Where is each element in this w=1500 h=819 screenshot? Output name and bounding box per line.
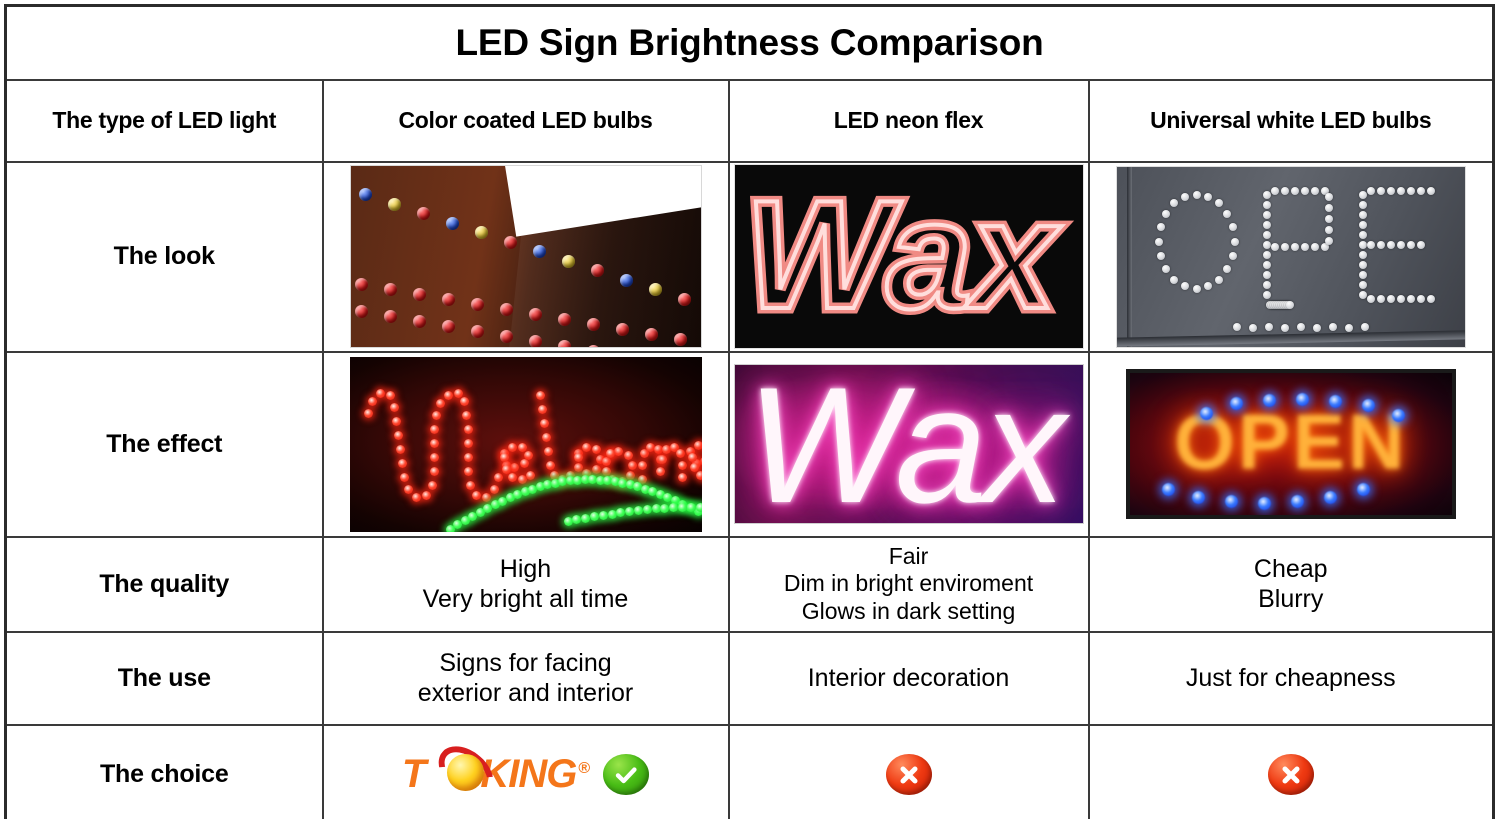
led-dot [1311, 243, 1319, 251]
column-header-label: Color coated LED bulbs [324, 107, 728, 134]
choice-group: TOPKING® [324, 752, 728, 797]
led-dot [1301, 243, 1309, 251]
led-dot [1417, 295, 1425, 303]
led-dot [649, 283, 662, 296]
led-dot [392, 417, 401, 426]
led-dot [413, 288, 426, 301]
led-dot [538, 405, 547, 414]
led-dot [1230, 397, 1243, 410]
led-dot [1231, 238, 1239, 246]
led-dot [669, 503, 678, 512]
led-dot [624, 451, 633, 460]
led-dot [1157, 252, 1165, 260]
led-dot [1407, 187, 1415, 195]
led-dot [574, 463, 583, 472]
led-dot [412, 493, 421, 502]
cell-text: Just for cheapness [1090, 663, 1493, 694]
text-line: Dim in bright enviroment [730, 570, 1088, 597]
led-dot [1215, 199, 1223, 207]
column-header-white: Universal white LED bulbs [1089, 80, 1494, 162]
table-row-look: The look Wax Wax [6, 162, 1494, 352]
cell-quality-white: Cheap Blurry [1089, 537, 1494, 632]
led-dot [1417, 241, 1425, 249]
led-dot [1397, 187, 1405, 195]
led-dot [464, 467, 473, 476]
led-dot [1263, 291, 1271, 299]
row-label-quality-cell: The quality [6, 537, 323, 632]
led-dot [643, 505, 652, 514]
column-header-type: The type of LED light [6, 80, 323, 162]
led-dot [582, 443, 591, 452]
led-dot [1359, 221, 1367, 229]
led-dot [542, 433, 551, 442]
led-dot [1377, 241, 1385, 249]
led-dot [620, 274, 633, 287]
cell-effect-white: OPEN [1089, 352, 1494, 537]
cell-use-neon: Interior decoration [729, 632, 1089, 725]
led-dot [628, 461, 637, 470]
led-dot [508, 443, 517, 452]
led-dot [529, 335, 542, 348]
cell-use-coated: Signs for facing exterior and interior [323, 632, 729, 725]
led-dot [430, 453, 439, 462]
led-dot [694, 441, 702, 450]
led-dot [540, 419, 549, 428]
led-dot [1359, 231, 1367, 239]
panel-rail-bottom [1117, 330, 1465, 346]
led-dot [652, 504, 661, 513]
led-dot [494, 473, 503, 482]
title-row: LED Sign Brightness Comparison [6, 6, 1494, 80]
led-dot [413, 315, 426, 328]
led-dot [1329, 395, 1342, 408]
led-dot [1345, 324, 1353, 332]
image-color-coated-bulbs-unlit [350, 165, 702, 348]
cell-choice-coated: TOPKING® [323, 725, 729, 819]
led-dot [656, 467, 665, 476]
led-dot [1359, 261, 1367, 269]
led-dot [1193, 191, 1201, 199]
cell-quality-coated: High Very bright all time [323, 537, 729, 632]
table-row-quality: The quality High Very bright all time Fa… [6, 537, 1494, 632]
led-dot [1362, 399, 1375, 412]
led-dot [430, 425, 439, 434]
row-label: The look [7, 242, 322, 271]
led-dot [1263, 201, 1271, 209]
cross-circle-icon [1268, 754, 1314, 795]
led-dot [1407, 241, 1415, 249]
led-dot [1377, 187, 1385, 195]
led-dot [1377, 295, 1385, 303]
led-dot [1329, 323, 1337, 331]
column-header-neon: LED neon flex [729, 80, 1089, 162]
led-dot [1397, 241, 1405, 249]
led-dot [1407, 295, 1415, 303]
led-dot [544, 447, 553, 456]
topking-logo: TOPKING® [402, 752, 589, 797]
neon-word-core: Wax [745, 171, 1055, 338]
led-dot [1155, 238, 1163, 246]
led-dot [464, 425, 473, 434]
cell-text: High Very bright all time [324, 554, 728, 615]
led-dot [1258, 497, 1271, 510]
led-dot [1229, 252, 1237, 260]
led-dot [462, 411, 471, 420]
led-dot [1263, 211, 1271, 219]
led-dot [1367, 295, 1375, 303]
led-dot [696, 503, 702, 512]
led-dot [1263, 231, 1271, 239]
logo-orb-icon [447, 754, 484, 791]
led-comparison-table: LED Sign Brightness Comparison The type … [4, 4, 1495, 819]
led-dot [1359, 191, 1367, 199]
led-dot [1387, 187, 1395, 195]
text-line: Just for cheapness [1090, 663, 1493, 694]
led-dot [1359, 271, 1367, 279]
led-dot [1281, 187, 1289, 195]
panel-rail-left [1127, 167, 1132, 347]
choice-group [730, 754, 1088, 795]
cell-use-white: Just for cheapness [1089, 632, 1494, 725]
led-dot [638, 461, 647, 470]
led-dot [500, 330, 513, 343]
led-dot [1162, 265, 1170, 273]
led-dot [396, 445, 405, 454]
cell-text: Cheap Blurry [1090, 554, 1493, 615]
text-line: Glows in dark setting [730, 598, 1088, 625]
led-dot [1181, 282, 1189, 290]
led-dot [1233, 323, 1241, 331]
led-dot [1263, 261, 1271, 269]
led-dot [384, 283, 397, 296]
led-dot [674, 333, 687, 346]
led-dot [592, 445, 601, 454]
led-dot [616, 508, 625, 517]
led-dot [1157, 223, 1165, 231]
led-dot [475, 226, 488, 239]
cell-look-neon: Wax Wax [729, 162, 1089, 352]
led-dot [1263, 394, 1276, 407]
led-dot [1223, 210, 1231, 218]
led-dot [602, 467, 611, 476]
led-dot [1392, 409, 1405, 422]
led-dot [502, 465, 511, 474]
led-dot [1263, 271, 1271, 279]
image-white-bulbs-unlit [1116, 166, 1466, 348]
led-dot [529, 308, 542, 321]
led-dot [417, 207, 430, 220]
led-dot [1170, 276, 1178, 284]
led-dot [386, 391, 395, 400]
image-neon-flex-unlit: Wax Wax [734, 164, 1084, 349]
led-dot [678, 461, 687, 470]
led-dot [1162, 483, 1175, 496]
led-dot [1200, 407, 1213, 420]
led-dot [436, 399, 445, 408]
led-dot [1271, 243, 1279, 251]
cell-choice-white [1089, 725, 1494, 819]
led-dot [464, 439, 473, 448]
led-dot [1359, 291, 1367, 299]
text-line: Very bright all time [324, 584, 728, 615]
led-dot [390, 403, 399, 412]
cell-look-coated [323, 162, 729, 352]
image-neon-flex-lit: Wax [734, 364, 1084, 524]
led-dot [688, 453, 697, 462]
led-dot [444, 391, 453, 400]
led-dot [1325, 226, 1333, 234]
led-dot [1297, 323, 1305, 331]
led-dot [1181, 193, 1189, 201]
led-dot [1263, 251, 1271, 259]
text-line: Interior decoration [730, 663, 1088, 694]
led-dot [1291, 243, 1299, 251]
column-header-label: The type of LED light [7, 107, 322, 134]
row-label-look-cell: The look [6, 162, 323, 352]
led-dot [430, 439, 439, 448]
cross-circle-icon [886, 754, 932, 795]
cell-effect-coated [323, 352, 729, 537]
cell-text: Signs for facing exterior and interior [324, 648, 728, 709]
led-dot [590, 512, 599, 521]
text-line: High [324, 554, 728, 585]
table-title-cell: LED Sign Brightness Comparison [6, 6, 1494, 80]
led-dot [1162, 210, 1170, 218]
led-dot [1281, 324, 1289, 332]
row-label-use-cell: The use [6, 632, 323, 725]
led-dot [1417, 187, 1425, 195]
led-dot [422, 491, 431, 500]
led-dot [490, 485, 499, 494]
led-dot [432, 411, 441, 420]
led-dot [1357, 483, 1370, 496]
led-dot [471, 298, 484, 311]
led-dot [1263, 191, 1271, 199]
led-dot [388, 198, 401, 211]
led-dot [1325, 204, 1333, 212]
led-dot [1397, 295, 1405, 303]
text-line: Cheap [1090, 554, 1493, 585]
led-dot [1263, 221, 1271, 229]
led-dot [471, 325, 484, 338]
led-dot [606, 449, 615, 458]
led-dot [400, 473, 409, 482]
led-dot [533, 245, 546, 258]
registered-mark: ® [578, 760, 589, 777]
led-dot [625, 507, 634, 516]
row-label: The effect [7, 430, 322, 459]
led-dot [1170, 199, 1178, 207]
led-dot [678, 503, 687, 512]
led-dot [1263, 241, 1271, 249]
cell-choice-neon [729, 725, 1089, 819]
led-dot [1286, 301, 1294, 309]
led-dot [384, 310, 397, 323]
led-dot [430, 467, 439, 476]
led-dot [696, 471, 702, 480]
row-label-effect-cell: The effect [6, 352, 323, 537]
led-dot [1204, 282, 1212, 290]
led-dot [614, 447, 623, 456]
led-dot [572, 515, 581, 524]
image-welcome-led-sign-lit [350, 357, 702, 532]
led-dot [678, 293, 691, 306]
led-dot [1263, 281, 1271, 289]
column-header-coated: Color coated LED bulbs [323, 80, 729, 162]
led-dot [634, 506, 643, 515]
led-dot [472, 491, 481, 500]
led-dot [526, 471, 535, 480]
led-dot [602, 457, 611, 466]
led-dot [1204, 193, 1212, 201]
page-title: LED Sign Brightness Comparison [7, 22, 1492, 64]
row-label-choice-cell: The choice [6, 725, 323, 819]
text-line: Fair [730, 543, 1088, 570]
led-dot [1311, 187, 1319, 195]
led-dot [608, 510, 617, 519]
led-dot [355, 278, 368, 291]
led-dot [1229, 223, 1237, 231]
led-dot [1291, 187, 1299, 195]
led-dot [520, 459, 529, 468]
column-header-label: Universal white LED bulbs [1090, 107, 1493, 134]
led-dot [1359, 251, 1367, 259]
led-dot [678, 473, 687, 482]
led-dot [1291, 495, 1304, 508]
led-dot [1193, 285, 1201, 293]
table-row-choice: The choice TOPKING® [6, 725, 1494, 819]
led-dot [658, 455, 667, 464]
led-dot [1359, 281, 1367, 289]
led-dot [394, 431, 403, 440]
led-dot [442, 293, 455, 306]
led-dot [1225, 495, 1238, 508]
led-dot [355, 305, 368, 318]
led-dot [536, 391, 545, 400]
led-dot [1325, 193, 1333, 201]
led-dot [518, 443, 527, 452]
led-dot [464, 453, 473, 462]
cell-text: Interior decoration [730, 663, 1088, 694]
table-row-use: The use Signs for facing exterior and in… [6, 632, 1494, 725]
led-dot [599, 511, 608, 520]
text-line: Blurry [1090, 584, 1493, 615]
header-row: The type of LED light Color coated LED b… [6, 80, 1494, 162]
led-dot [1301, 187, 1309, 195]
text-line: exterior and interior [324, 678, 728, 709]
led-dot [616, 323, 629, 336]
led-dot [1387, 295, 1395, 303]
led-dot [558, 313, 571, 326]
choice-group [1090, 754, 1493, 795]
led-dot [1192, 491, 1205, 504]
led-dot [1361, 323, 1369, 331]
led-dot [359, 188, 372, 201]
led-dot [1265, 323, 1273, 331]
led-dot [500, 303, 513, 316]
led-dot [1281, 243, 1289, 251]
led-dot [562, 255, 575, 268]
led-dot [1427, 187, 1435, 195]
led-dot [404, 485, 413, 494]
led-dot [1324, 491, 1337, 504]
led-dot [660, 504, 669, 513]
led-dot [591, 264, 604, 277]
led-dot [574, 453, 583, 462]
led-dot [558, 340, 571, 348]
led-dot [687, 503, 696, 512]
led-dot [500, 453, 509, 462]
led-dot [1271, 187, 1279, 195]
led-dot [676, 449, 685, 458]
row-label: The use [7, 664, 322, 693]
led-dot [454, 389, 463, 398]
cell-quality-neon: Fair Dim in bright enviroment Glows in d… [729, 537, 1089, 632]
cell-look-white [1089, 162, 1494, 352]
led-dot [626, 471, 635, 480]
led-dot [645, 328, 658, 341]
led-dot [1325, 215, 1333, 223]
led-dot [581, 514, 590, 523]
column-header-label: LED neon flex [730, 107, 1088, 134]
led-dot [442, 320, 455, 333]
led-dot [446, 217, 459, 230]
led-dot [1427, 295, 1435, 303]
led-dot [1359, 241, 1367, 249]
neon-word-lit: Wax [747, 364, 1062, 524]
led-dot [1325, 237, 1333, 245]
led-dot [428, 481, 437, 490]
row-label: The choice [7, 760, 322, 789]
led-dot [368, 397, 377, 406]
table-row-effect: The effect Wax OPEN [6, 352, 1494, 537]
led-dot [1387, 241, 1395, 249]
cell-text: Fair Dim in bright enviroment Glows in d… [730, 543, 1088, 624]
led-dot [508, 473, 517, 482]
led-dot [466, 481, 475, 490]
led-dot [587, 318, 600, 331]
led-dot [1296, 393, 1309, 406]
cell-effect-neon: Wax [729, 352, 1089, 537]
led-dot [376, 389, 385, 398]
led-dot [1249, 324, 1257, 332]
led-dot [364, 409, 373, 418]
check-circle-icon [603, 754, 649, 795]
led-dot [482, 493, 491, 502]
led-dot [1359, 211, 1367, 219]
row-label: The quality [7, 570, 322, 599]
led-dot [504, 236, 517, 249]
comparison-sheet: LED Sign Brightness Comparison The type … [0, 0, 1500, 819]
led-dot [1367, 187, 1375, 195]
led-dot [564, 517, 573, 526]
led-dot [1359, 201, 1367, 209]
led-dot [460, 397, 469, 406]
text-line: Signs for facing [324, 648, 728, 679]
led-dot [1313, 324, 1321, 332]
led-dot [1223, 265, 1231, 273]
led-dot [1367, 241, 1375, 249]
led-dot [510, 463, 519, 472]
led-dot [592, 465, 601, 474]
image-open-led-sign-lit: OPEN [1126, 369, 1456, 519]
led-dot [690, 463, 699, 472]
led-dot [546, 461, 555, 470]
led-dot [1215, 276, 1223, 284]
led-dot [587, 345, 600, 348]
led-dot [398, 459, 407, 468]
